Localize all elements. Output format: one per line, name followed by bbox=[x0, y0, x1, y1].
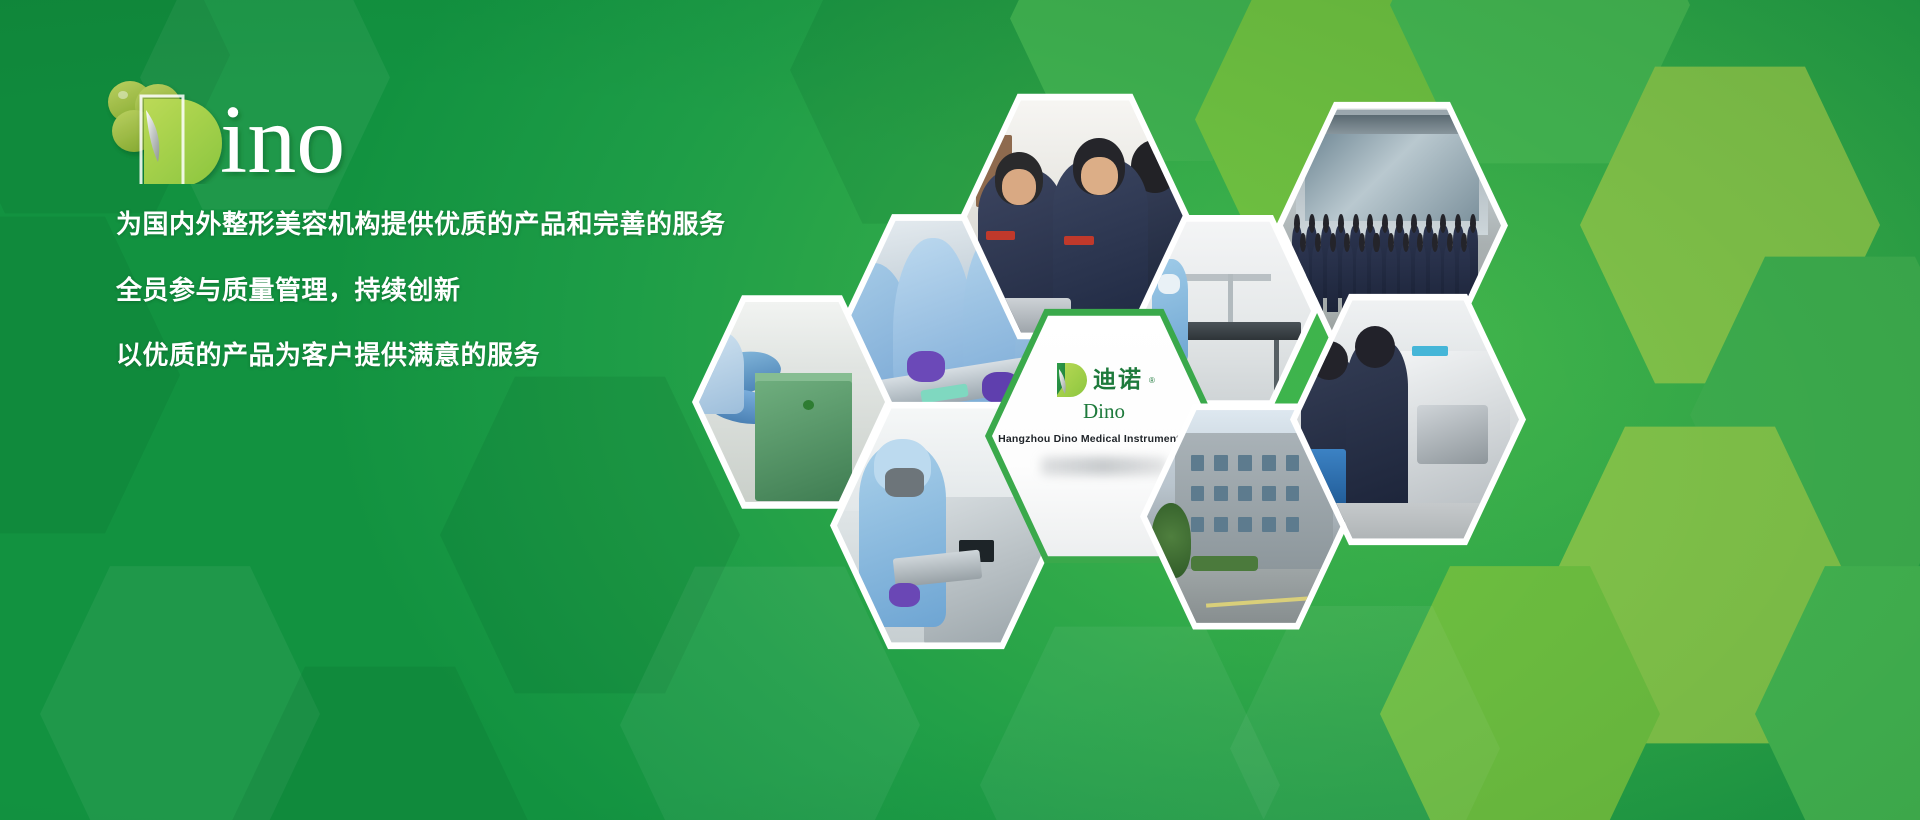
photo-hexagon-cluster: 迪诺 ® Dino Hangzhou Dino Medical Instrume… bbox=[640, 80, 1920, 640]
center-badge-brand-en: Dino bbox=[1083, 401, 1125, 422]
dino-logo-icon: ino bbox=[92, 68, 512, 184]
logo-wordmark: ino bbox=[220, 86, 345, 184]
registered-mark-icon: ® bbox=[1149, 376, 1155, 385]
center-badge-mark: 迪诺 ® bbox=[1053, 361, 1155, 399]
center-badge-blurred-text bbox=[1041, 457, 1166, 475]
dino-logo[interactable]: ino bbox=[92, 68, 512, 184]
center-badge-brand-cn: 迪诺 bbox=[1093, 369, 1143, 392]
banner-hero: ino 为国内外整形美容机构提供优质的产品和完善的服务 全员参与质量管理，持续创… bbox=[0, 0, 1920, 820]
dino-badge-icon bbox=[1053, 361, 1087, 399]
